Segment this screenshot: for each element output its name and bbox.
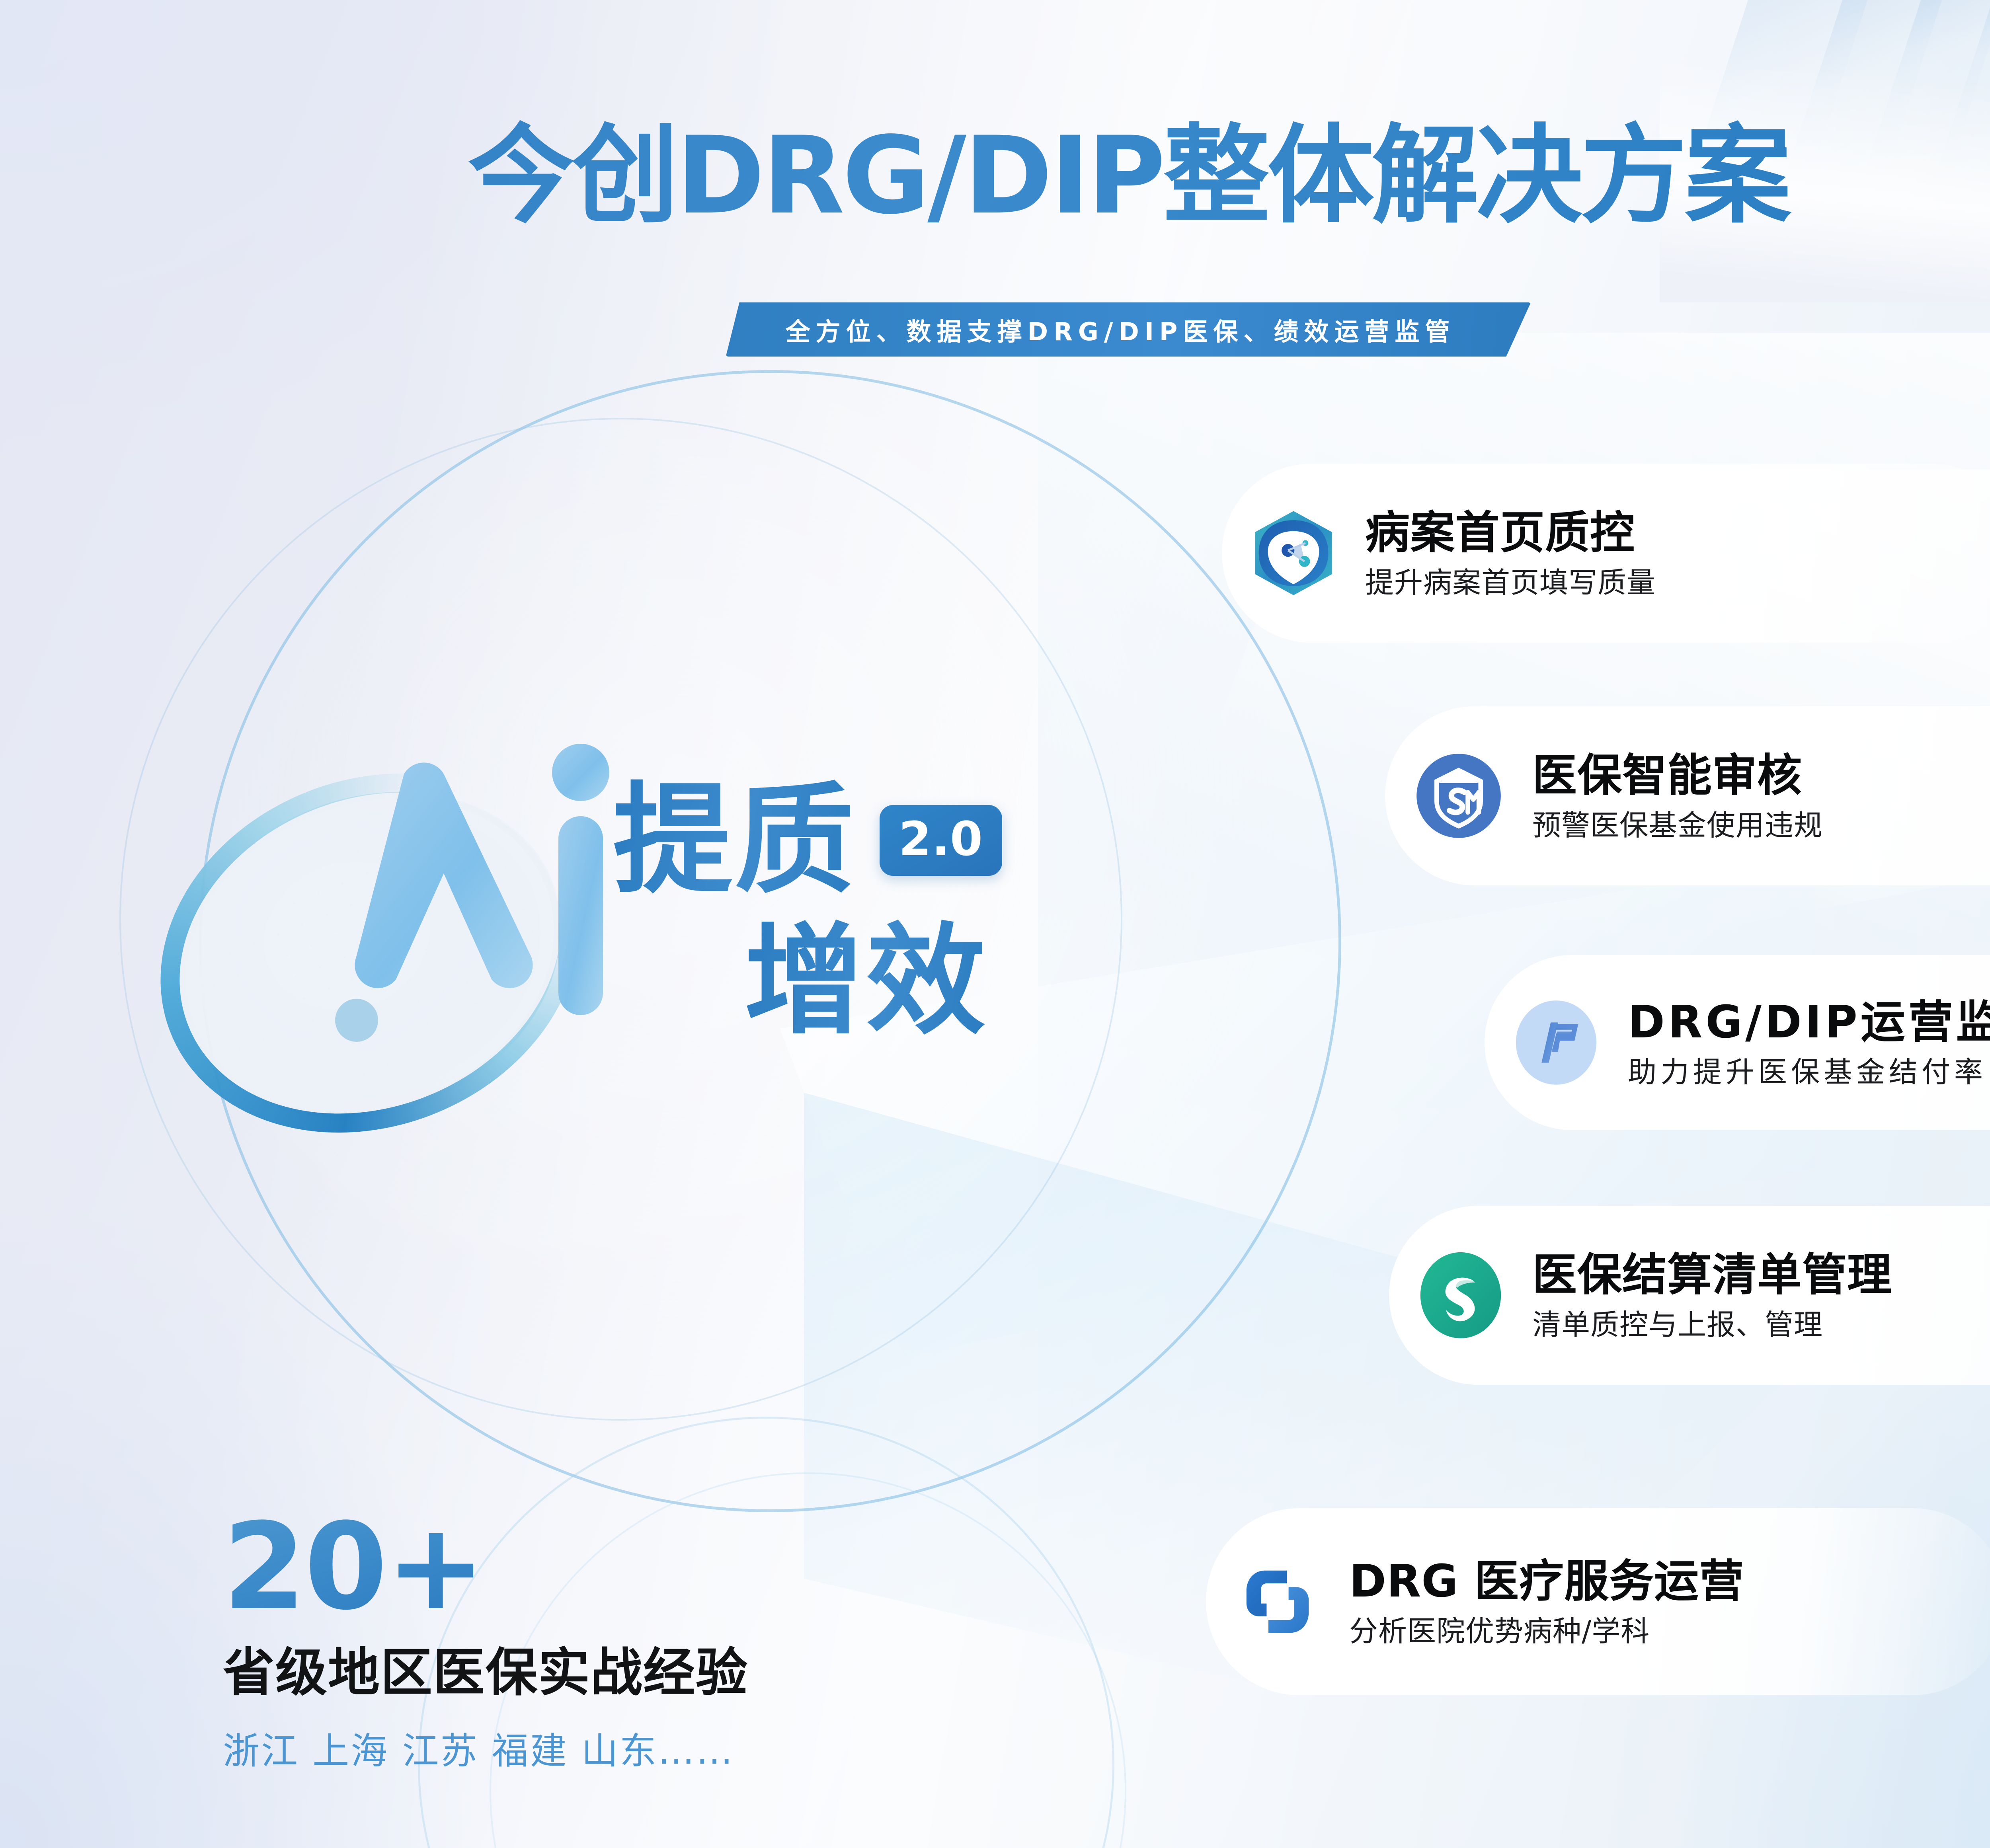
card-title: DRG/DIP运营监管 [1628,996,1990,1049]
hero-headline-row-1: 提质 2.0 [613,776,1210,905]
card-title: 病案首页质控 [1365,507,1656,559]
ai-letters-icon [324,702,627,1100]
ai-emblem [131,688,661,1222]
hero-headline-row-2: 增效 [744,917,1210,1046]
feature-card-insurance-smart-audit[interactable]: 医保智能审核 预警医保基金使用违规 [1385,706,1990,885]
drg-service-operation-icon [1206,1556,1349,1647]
header: 今创DRG/DIP整体解决方案 [0,119,1990,232]
feature-card-medical-record-quality[interactable]: 病案首页质控 提升病案首页填写质量 [1222,464,1990,643]
settlement-list-icon [1389,1250,1532,1341]
feature-card-text: DRG 医疗服务运营 分析医院优势病种/学科 [1349,1555,1744,1649]
shield-audit-icon [1385,750,1532,842]
subtitle-ribbon-wrap: 全方位、数据支撑DRG/DIP医保、绩效运营监管 [0,302,1990,357]
card-subtitle: 预警医保基金使用违规 [1532,808,1823,842]
card-subtitle: 分析医院优势病种/学科 [1349,1614,1744,1648]
feature-card-drg-service-operation[interactable]: DRG 医疗服务运营 分析医院优势病种/学科 [1206,1508,1990,1695]
card-title: 医保结算清单管理 [1532,1249,1892,1301]
card-subtitle: 提升病案首页填写质量 [1365,565,1656,600]
subtitle-ribbon: 全方位、数据支撑DRG/DIP医保、绩效运营监管 [726,302,1531,357]
hexagon-record-quality-icon [1222,507,1365,599]
feature-card-settlement-list-management[interactable]: 医保结算清单管理 清单质控与上报、管理 [1389,1206,1990,1385]
version-badge: 2.0 [880,805,1002,876]
card-title: 医保智能审核 [1532,749,1823,802]
stats-block: 20+ 省级地区医保实战经验 浙江 上海 江苏 福建 山东…… [223,1512,1019,1774]
feature-card-text: 病案首页质控 提升病案首页填写质量 [1365,507,1656,600]
card-title: DRG 医疗服务运营 [1349,1555,1744,1608]
feature-card-text: DRG/DIP运营监管 助力提升医保基金结付率 [1628,996,1990,1090]
stat-number: 20+ [223,1512,1019,1622]
dip-monitor-icon [1485,997,1628,1088]
hero-headline: 提质 2.0 增效 [613,776,1210,1046]
page-title: 今创DRG/DIP整体解决方案 [0,119,1990,232]
hero-word-2: 增效 [744,917,988,1046]
card-subtitle: 助力提升医保基金结付率 [1628,1055,1990,1089]
hero-word-1: 提质 [613,776,856,905]
subtitle-text: 全方位、数据支撑DRG/DIP医保、绩效运营监管 [786,312,1455,347]
feature-card-text: 医保智能审核 预警医保基金使用违规 [1532,749,1823,843]
card-subtitle: 清单质控与上报、管理 [1532,1308,1892,1342]
stat-label: 省级地区医保实战经验 [223,1631,1019,1706]
feature-card-drg-dip-operation-supervision[interactable]: DRG/DIP运营监管 助力提升医保基金结付率 [1485,955,1990,1130]
stat-regions: 浙江 上海 江苏 福建 山东…… [223,1721,1019,1774]
feature-card-text: 医保结算清单管理 清单质控与上报、管理 [1532,1249,1892,1342]
